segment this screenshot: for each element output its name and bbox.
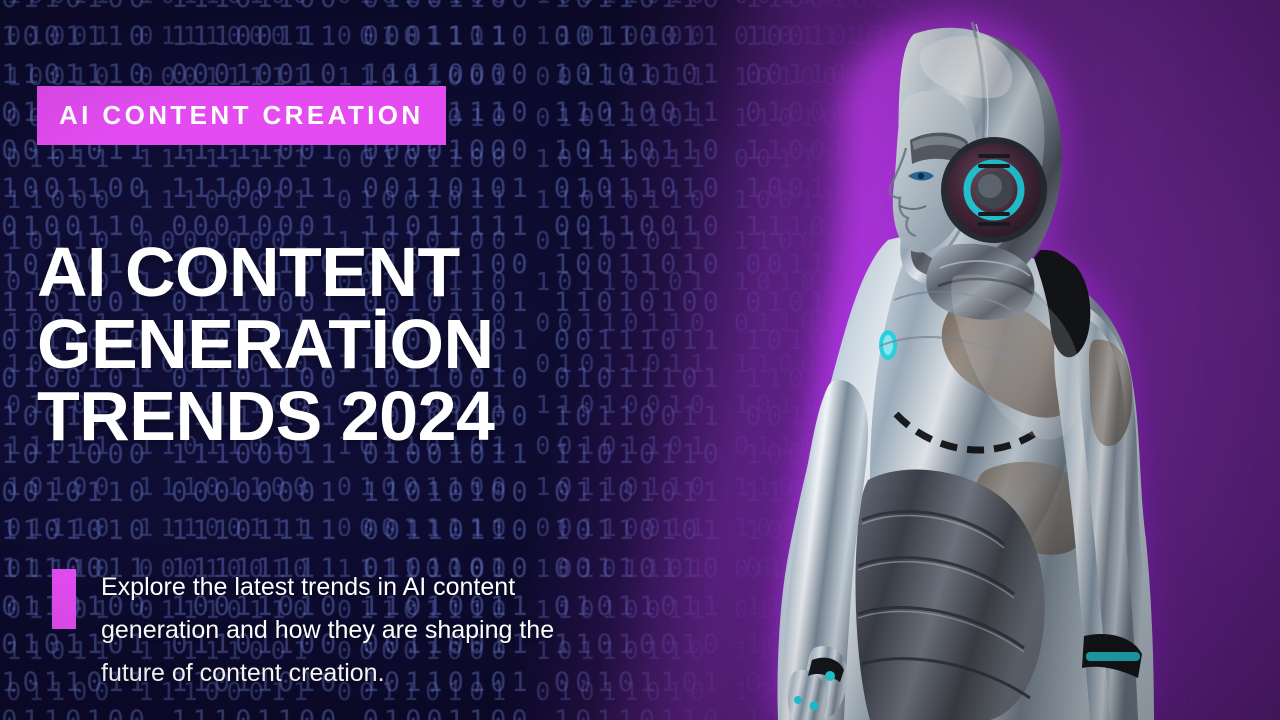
page-title-line-1: AI CONTENT	[37, 236, 657, 308]
subtitle-accent-bar	[52, 569, 76, 629]
subtitle-line-2: generation and how they are shaping the	[101, 609, 681, 652]
page-title-line-2: GENERATİON	[37, 308, 657, 380]
subtitle-line-1: Explore the latest trends in AI content	[101, 566, 681, 609]
subtitle-block: Explore the latest trends in AI content …	[52, 566, 681, 695]
page-title-line-3: TRENDS 2024	[37, 380, 657, 452]
page-title: AI CONTENT GENERATİON TRENDS 2024	[37, 236, 657, 452]
category-badge: AI CONTENT CREATION	[37, 86, 446, 145]
subtitle-line-3: future of content creation.	[101, 652, 681, 695]
subtitle-text: Explore the latest trends in AI content …	[101, 566, 681, 695]
slide-canvas: 10110100 11101100 01001100 10110110 1100…	[0, 0, 1280, 720]
slide-content: AI CONTENT CREATION AI CONTENT GENERATİO…	[37, 0, 697, 720]
category-badge-label: AI CONTENT CREATION	[37, 100, 424, 131]
